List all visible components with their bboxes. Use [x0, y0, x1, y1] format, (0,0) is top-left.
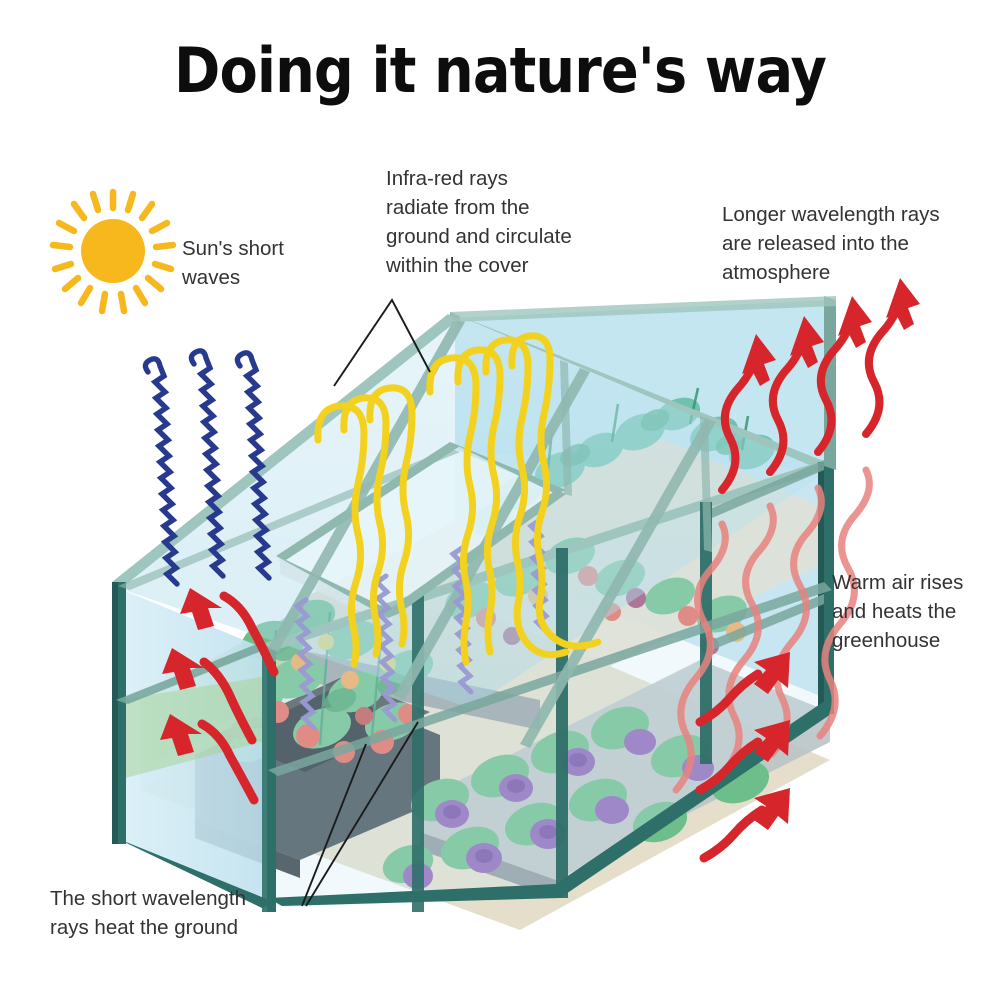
greenhouse-illustration [0, 0, 1000, 1000]
infographic-canvas: Doing it nature's way [0, 0, 1000, 1000]
sun-short-waves-label: Sun's short waves [182, 234, 362, 292]
short-wavelength-ground-label: The short wavelength rays heat the groun… [50, 884, 320, 942]
warm-air-rises-label: Warm air rises and heats the greenhouse [832, 568, 997, 655]
sun-icon [53, 192, 173, 311]
infra-red-rays-label: Infra-red rays radiate from the ground a… [386, 164, 618, 280]
longer-wavelength-label: Longer wavelength rays are released into… [722, 200, 964, 287]
